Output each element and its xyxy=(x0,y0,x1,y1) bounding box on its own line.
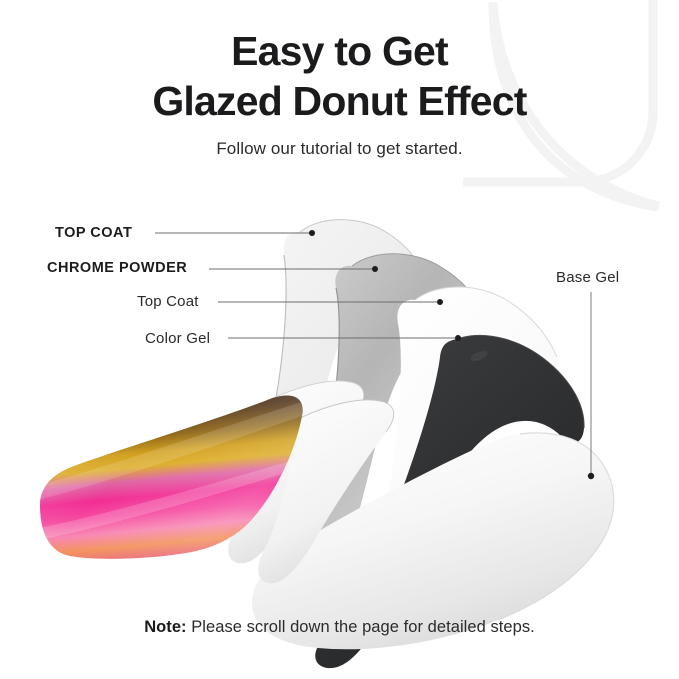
callout-label-chrome-powder: CHROME POWDER xyxy=(47,260,187,276)
top-coat-layer xyxy=(238,220,429,554)
base-gel-layer xyxy=(252,433,614,649)
top-coat-gloss-layer xyxy=(352,287,559,639)
footer-note-text: Please scroll down the page for detailed… xyxy=(187,618,535,636)
callout-label-top-coat-caps: TOP COAT xyxy=(55,225,132,241)
anchor-dot-top-coat-caps xyxy=(309,230,315,236)
footer-note: Note: Please scroll down the page for de… xyxy=(0,618,679,637)
callout-label-color-gel: Color Gel xyxy=(145,330,210,347)
anchor-dot-top-coat xyxy=(437,299,443,305)
chrome-powder-layer xyxy=(294,254,489,587)
callout-label-top-coat: Top Coat xyxy=(137,293,199,310)
callout-anchor-dots xyxy=(309,230,594,479)
chrome-gradient-nail xyxy=(20,380,340,580)
title-line-1: Easy to Get xyxy=(0,26,679,76)
callout-leader-lines xyxy=(155,233,591,476)
title-line-2: Glazed Donut Effect xyxy=(0,76,679,126)
anchor-dot-base-gel xyxy=(588,473,594,479)
separator-sheets xyxy=(228,381,394,583)
anchor-dot-color-gel xyxy=(455,335,461,341)
anchor-dot-chrome-powder xyxy=(372,266,378,272)
poster-canvas: Easy to Get Glazed Donut Effect Follow o… xyxy=(0,0,679,679)
page-subtitle: Follow our tutorial to get started. xyxy=(0,139,679,159)
page-title: Easy to Get Glazed Donut Effect Follow o… xyxy=(0,26,679,159)
callout-label-base-gel: Base Gel xyxy=(556,269,619,286)
footer-note-prefix: Note: xyxy=(144,618,186,636)
